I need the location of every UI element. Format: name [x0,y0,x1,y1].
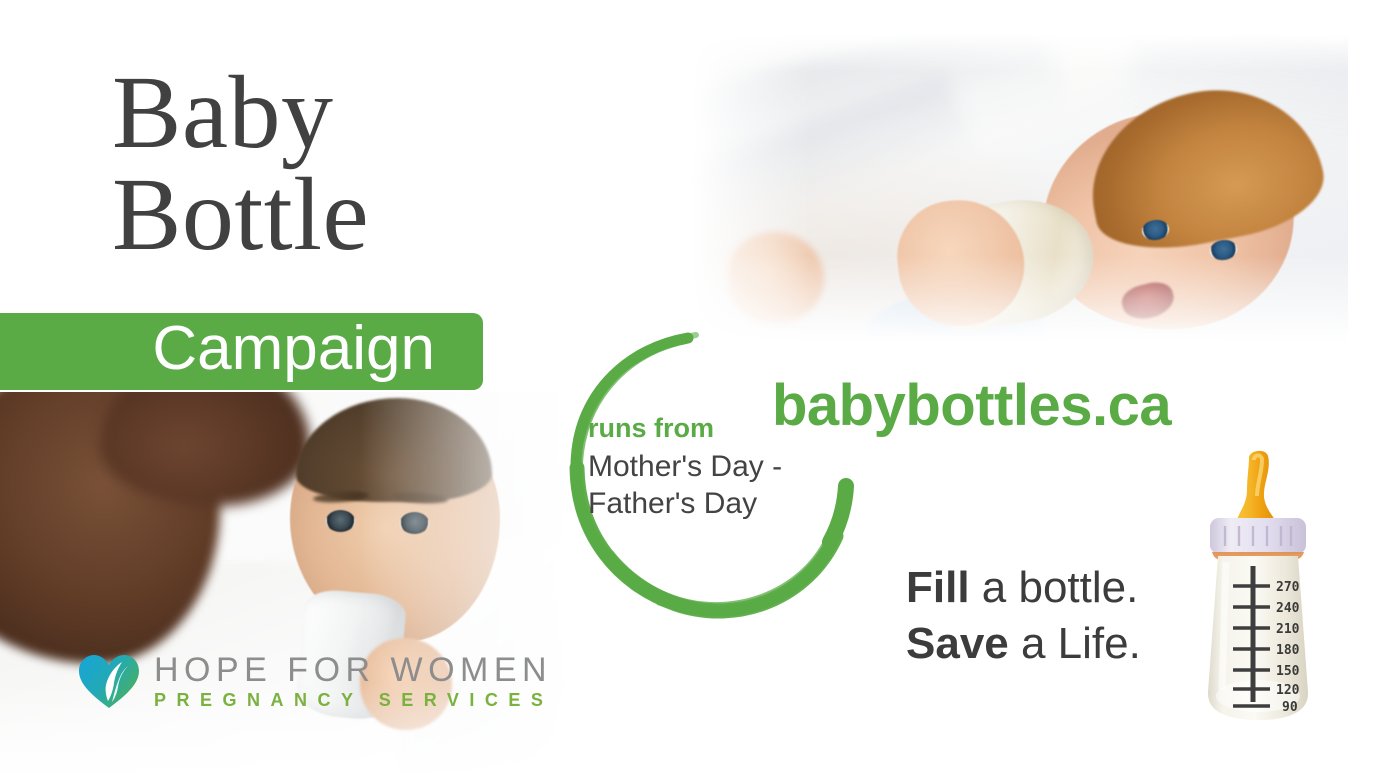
logo-title: HOPE FOR WOMEN [154,652,553,688]
baby-eye [400,512,429,534]
tagline-line-1-rest: a bottle. [970,563,1139,612]
bottle-measure-270: 270 [1276,580,1300,595]
bottle-measure-120: 120 [1276,683,1300,698]
photo-baby-with-bottle [690,34,1348,342]
tagline-fill: Fill [906,563,970,612]
campaign-banner-label: Campaign [152,318,483,386]
date-end: Father's Day [588,485,838,523]
tagline-line-1: Fill a bottle. [906,560,1141,616]
bottle-measure-150: 150 [1276,664,1300,679]
bottle-measure-180: 180 [1276,643,1300,658]
headline-line-2: Bottle [112,164,532,266]
headline-line-1: Baby [112,55,334,170]
tagline-line-2-rest: a Life. [1009,619,1141,668]
campaign-banner: Campaign [0,313,483,390]
baby-bottle-illustration: 270 240 210 180 150 120 90 [1192,444,1324,732]
tagline-save: Save [906,619,1009,668]
bottle-measure-210: 210 [1276,622,1300,637]
bottle-measure-240: 240 [1276,601,1300,616]
tagline-line-2: Save a Life. [906,616,1141,672]
bottle-scale-labels: 270 240 210 180 150 120 90 [1276,580,1300,715]
tagline: Fill a bottle. Save a Life. [906,560,1141,673]
baby-eye [326,510,355,532]
page-title: Baby Bottle [112,62,532,266]
date-start: Mother's Day - [588,448,838,486]
logo-wordmark: HOPE FOR WOMEN PREGNANCY SERVICES [154,652,553,711]
poster-canvas: Baby Bottle Campaign runs from Mother's … [0,0,1394,784]
photo-mother-and-baby [0,392,580,784]
heart-icon [78,652,140,710]
bottle-measure-90: 90 [1282,700,1298,715]
logo-subtitle: PREGNANCY SERVICES [154,691,553,711]
organisation-logo: HOPE FOR WOMEN PREGNANCY SERVICES [78,652,553,711]
website-url[interactable]: babybottles.ca [772,372,1171,439]
